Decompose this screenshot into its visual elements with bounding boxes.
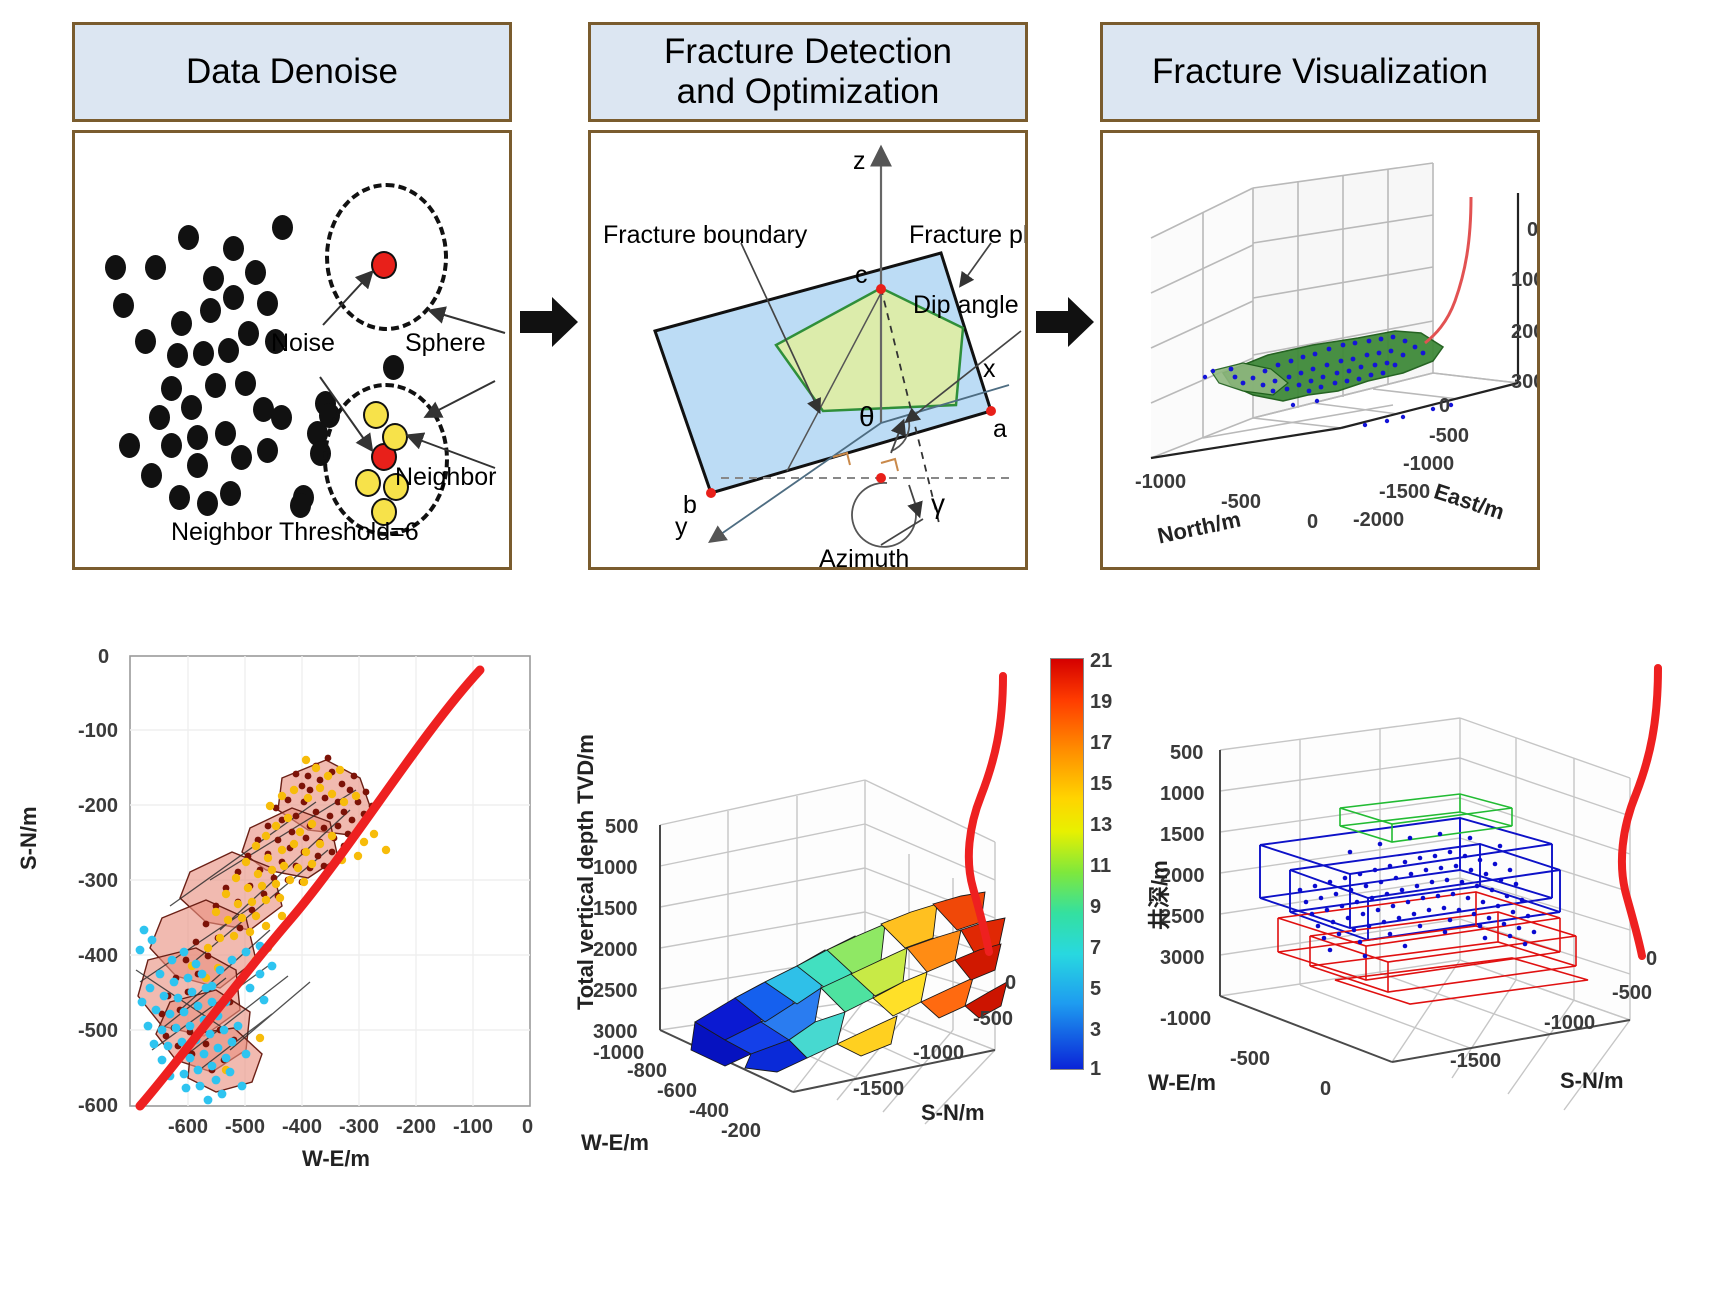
data-point xyxy=(257,438,278,463)
axis-tick-depth: 2000 xyxy=(1511,321,1540,344)
caption-neighbor-threshold: Neighbor Threshold=6 xyxy=(171,518,419,547)
angle-label-theta: θ xyxy=(859,401,875,433)
axis-tick-north: -1000 xyxy=(1135,471,1186,494)
panel-title-data-denoise: Data Denoise xyxy=(186,52,398,92)
panel-header-fracture-visualization: Fracture Visualization xyxy=(1100,22,1540,122)
data-point xyxy=(167,343,188,368)
chart-boxes3d: 500 1000 1500 2000 2500 3000 井深/m -1000 … xyxy=(1160,630,1720,1190)
data-point xyxy=(215,421,236,446)
data-point xyxy=(290,493,311,518)
data-point xyxy=(169,485,190,510)
noise-point xyxy=(371,251,397,279)
data-point xyxy=(178,225,199,250)
axis-label-sn-boxes: S-N/m xyxy=(1560,1068,1624,1094)
axis-tick-sn: -200 xyxy=(78,795,118,818)
axis-tick-we: -600 xyxy=(168,1116,208,1139)
annotation-fracture-boundary: Fracture boundary xyxy=(603,221,807,250)
data-point xyxy=(223,285,244,310)
colorbar-tick: 3 xyxy=(1090,1019,1101,1042)
axis-tick-sn: 0 xyxy=(98,646,109,669)
axis-tick-sn-3d: -1000 xyxy=(913,1042,964,1065)
colorbar-tick: 11 xyxy=(1090,855,1111,878)
data-point xyxy=(245,260,266,285)
colorbar-tick: 15 xyxy=(1090,773,1112,796)
origin-marker xyxy=(876,473,886,483)
data-point xyxy=(149,405,170,430)
axis-label-z: z xyxy=(853,147,866,176)
data-point xyxy=(161,433,182,458)
data-point xyxy=(105,255,126,280)
axis-label-we-3d: W-E/m xyxy=(581,1130,649,1156)
panel-header-fracture-detection: Fracture Detection and Optimization xyxy=(588,22,1028,122)
axis-tick-east: -2000 xyxy=(1353,509,1404,532)
vertex-label-c: c xyxy=(855,261,868,290)
axis-tick-we: -500 xyxy=(225,1116,265,1139)
axis-label-depth-cn: 井深/m xyxy=(1142,860,1174,930)
axis-tick-we: 0 xyxy=(522,1116,533,1139)
data-point xyxy=(383,355,404,380)
axis-tick-tvd: 1500 xyxy=(593,898,638,921)
data-point xyxy=(187,425,208,450)
axis-tick-we: -200 xyxy=(396,1116,436,1139)
colorbar-tick: 17 xyxy=(1090,732,1112,755)
azimuth-arc xyxy=(852,483,916,547)
data-point xyxy=(220,481,241,506)
angle-label-gamma: γ xyxy=(931,488,945,520)
annotation-noise: Noise xyxy=(271,329,335,358)
data-point xyxy=(271,405,292,430)
axis-tick-sn-3d: 0 xyxy=(1005,972,1016,995)
panel-body-data-denoise: Noise Sphere Neighbor Neighbor Threshold… xyxy=(72,130,512,570)
vertex-label-a: a xyxy=(993,415,1007,444)
axis-tick-depth-cn: 1000 xyxy=(1160,783,1205,806)
axis-label-tvd: Total vertical depth TVD/m xyxy=(573,734,599,1010)
panel-body-fracture-visualization: -1000 -500 0 North/m 0 -500 -1000 -1500 … xyxy=(1100,130,1540,570)
axis-tick-east: -1500 xyxy=(1379,481,1430,504)
leader-sphere-bottom xyxy=(427,381,495,416)
data-point xyxy=(141,463,162,488)
neighbor-point xyxy=(355,469,381,497)
axis-tick-we-boxes: -1000 xyxy=(1160,1008,1211,1031)
data-point xyxy=(203,266,224,291)
data-point xyxy=(113,293,134,318)
colorbar-tick: 21 xyxy=(1090,650,1112,673)
axis-label-x: x xyxy=(983,355,996,384)
axis-tick-north: 0 xyxy=(1307,511,1318,534)
axis-tick-tvd: 2000 xyxy=(593,939,638,962)
axis-tick-sn-boxes: -500 xyxy=(1612,982,1652,1005)
well-trajectory-path-boxes xyxy=(1622,668,1658,956)
vertex-c xyxy=(876,284,886,294)
data-point xyxy=(205,373,226,398)
axis-tick-depth: 0 xyxy=(1527,219,1538,242)
axis-tick-we-boxes: 0 xyxy=(1320,1078,1331,1101)
data-point xyxy=(197,491,218,516)
axis-tick-sn-boxes: -1500 xyxy=(1450,1050,1501,1073)
axis-tick-sn: -500 xyxy=(78,1020,118,1043)
axis-tick-depth-cn: 3000 xyxy=(1160,947,1205,970)
annotation-sphere: Sphere xyxy=(405,329,486,358)
data-point xyxy=(272,215,293,240)
colorbar-tick: 7 xyxy=(1090,937,1101,960)
chart-tvd3d: 500 1000 1500 2000 2500 3000 Total verti… xyxy=(565,630,1035,1190)
axis-label-sn-3d: S-N/m xyxy=(921,1100,985,1126)
annotation-fracture-plane: Fracture plane xyxy=(909,221,1028,250)
axis-tick-sn-boxes: -1000 xyxy=(1544,1012,1595,1035)
axis-tick-sn: -600 xyxy=(78,1095,118,1118)
axis-tick-depth-cn: 500 xyxy=(1170,742,1203,765)
axis-tick-depth-cn: 1500 xyxy=(1160,824,1205,847)
neighbor-point xyxy=(382,423,408,451)
axis-tick-sn-3d: -1500 xyxy=(853,1078,904,1101)
axis-tick-we: -300 xyxy=(339,1116,379,1139)
axis-tick-depth: 1000 xyxy=(1511,269,1540,292)
data-point xyxy=(238,321,259,346)
panel-header-data-denoise: Data Denoise xyxy=(72,22,512,122)
data-point xyxy=(135,329,156,354)
axis-tick-east: -500 xyxy=(1429,425,1469,448)
data-point xyxy=(257,291,278,316)
data-point xyxy=(145,255,166,280)
axis-label-we-boxes: W-E/m xyxy=(1148,1070,1216,1096)
axis-label-we: W-E/m xyxy=(302,1146,370,1172)
colorbar-gradient xyxy=(1050,658,1084,1070)
data-point xyxy=(218,338,239,363)
data-point xyxy=(235,371,256,396)
axis-tick-we-3d: -200 xyxy=(721,1120,761,1143)
data-point xyxy=(193,341,214,366)
axis-tick-sn: -100 xyxy=(78,720,118,743)
vertex-label-b: b xyxy=(683,491,697,520)
data-point xyxy=(171,311,192,336)
panel-title-fracture-detection-line1: Fracture Detection xyxy=(664,32,952,72)
annotation-azimuth: Azimuth xyxy=(819,545,909,570)
axis-tick-tvd: 3000 xyxy=(593,1021,638,1044)
colorbar-tick: 13 xyxy=(1090,814,1112,837)
data-point xyxy=(181,395,202,420)
flow-arrow-1 xyxy=(520,295,580,350)
axis-tick-east: -1000 xyxy=(1403,453,1454,476)
annotation-neighbor: Neighbor xyxy=(395,463,496,492)
axis-tick-tvd: 500 xyxy=(605,816,638,839)
data-point xyxy=(119,433,140,458)
data-point xyxy=(231,445,252,470)
axis-tick-tvd: 2500 xyxy=(593,980,638,1003)
axis-tick-sn-3d: -500 xyxy=(973,1008,1013,1031)
axis-tick-we-boxes: -500 xyxy=(1230,1048,1270,1071)
colorbar-tick: 9 xyxy=(1090,896,1101,919)
data-point xyxy=(161,376,182,401)
colorbar-tick: 5 xyxy=(1090,978,1101,1001)
axis-tick-we: -100 xyxy=(453,1116,493,1139)
panel-title-fracture-visualization: Fracture Visualization xyxy=(1152,52,1488,92)
chart-plan-view: 0 -100 -200 -300 -400 -500 -600 S-N/m -6… xyxy=(20,630,560,1190)
data-point xyxy=(223,236,244,261)
neighbor-point xyxy=(363,401,389,429)
flow-arrow-2 xyxy=(1036,295,1096,350)
axis-tick-east: 0 xyxy=(1439,395,1450,418)
azimuth-arrow xyxy=(909,485,919,515)
colorbar-tick: 19 xyxy=(1090,691,1112,714)
data-point xyxy=(200,298,221,323)
axis-tick-tvd: 1000 xyxy=(593,857,638,880)
data-point xyxy=(187,453,208,478)
annotation-dip-angle: Dip angle xyxy=(913,291,1019,320)
vertex-b xyxy=(706,488,716,498)
panel-body-fracture-detection: z x y c a b θ γ Fracture boundary Fractu… xyxy=(588,130,1028,570)
axis-tick-sn-boxes: 0 xyxy=(1646,948,1657,971)
axis-tick-we: -400 xyxy=(282,1116,322,1139)
axis-tick-depth: 3000 xyxy=(1511,371,1540,394)
axis-tick-sn: -400 xyxy=(78,945,118,968)
axis-tick-sn: -300 xyxy=(78,870,118,893)
axis-label-sn: S-N/m xyxy=(16,806,42,870)
colorbar-tick: 1 xyxy=(1090,1058,1101,1081)
panel-title-fracture-detection-line2: and Optimization xyxy=(677,72,940,112)
